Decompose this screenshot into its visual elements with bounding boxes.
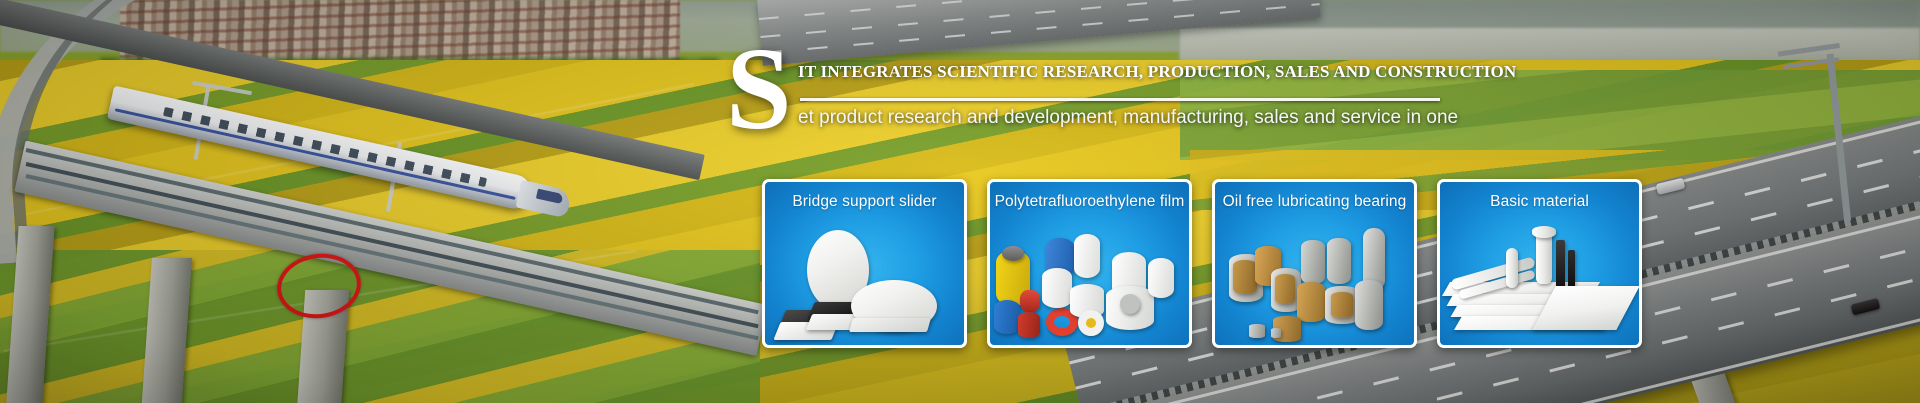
basic-material-sheets-art bbox=[1440, 224, 1639, 337]
product-card-ptfe-film[interactable]: Polytetrafluoroethylene film bbox=[987, 179, 1192, 348]
ptfe-film-rolls-art bbox=[990, 224, 1189, 337]
bridge-support-slider-art bbox=[765, 224, 964, 337]
rail-viaduct bbox=[0, 0, 780, 403]
product-card-oil-free-bearing[interactable]: Oil free lubricating bearing bbox=[1212, 179, 1417, 348]
product-card-list: Bridge support slider Polytetrafluoroeth… bbox=[762, 179, 1642, 348]
headline-divider bbox=[800, 98, 1440, 101]
banner-subheadline: et product research and development, man… bbox=[798, 107, 1498, 129]
banner-headline: IT INTEGRATES SCIENTIFIC RESEARCH, PRODU… bbox=[798, 62, 1438, 82]
product-card-label: Oil free lubricating bearing bbox=[1215, 193, 1414, 211]
oil-free-bearings-art bbox=[1215, 224, 1414, 337]
hero-initial-letter: S bbox=[726, 34, 790, 144]
product-card-label: Polytetrafluoroethylene film bbox=[990, 193, 1189, 211]
hero-banner: S IT INTEGRATES SCIENTIFIC RESEARCH, PRO… bbox=[0, 0, 1920, 403]
product-card-label: Basic material bbox=[1440, 193, 1639, 211]
product-card-basic-material[interactable]: Basic material bbox=[1437, 179, 1642, 348]
product-card-bridge-support-slider[interactable]: Bridge support slider bbox=[762, 179, 967, 348]
highway-pier bbox=[1692, 373, 1770, 403]
viaduct-pier bbox=[140, 258, 192, 403]
product-card-label: Bridge support slider bbox=[765, 193, 964, 211]
